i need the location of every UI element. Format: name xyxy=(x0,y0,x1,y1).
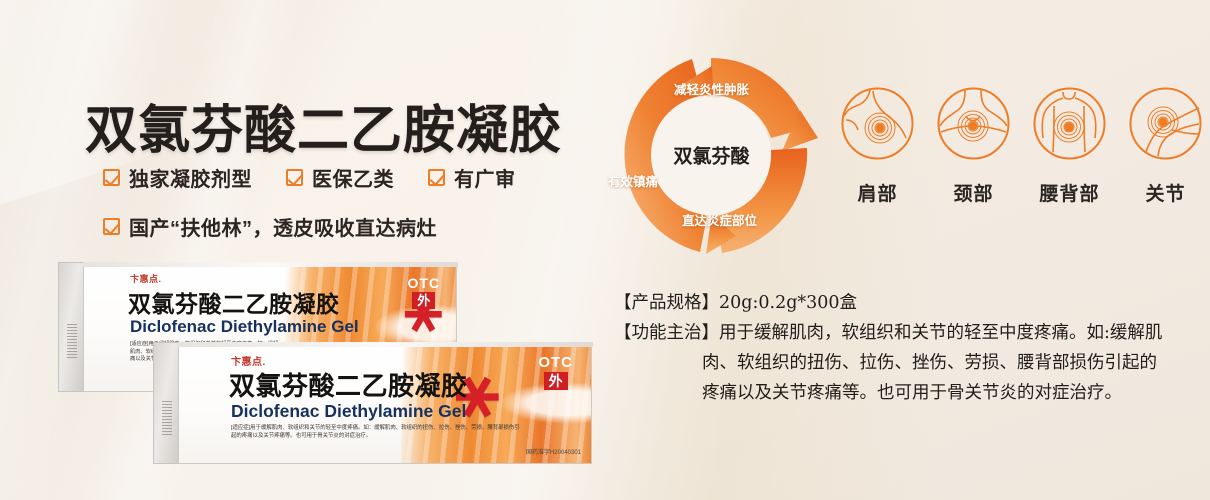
feature-item: 医保乙类 xyxy=(286,163,394,192)
feature-list: 独家凝胶剂型 医保乙类 有广审 国产“扶他林”，透皮吸收直达病灶 xyxy=(103,163,550,241)
check-icon xyxy=(103,218,120,235)
otc-badge: OTC 外 xyxy=(407,276,440,309)
indication-text-1: 用于缓解肌肉，软组织和关节的轻至中度疼痛。如:缓解肌 xyxy=(719,323,1162,343)
shoulder-pain-icon xyxy=(840,86,915,161)
neck-pain-icon xyxy=(936,86,1011,161)
feature-row: 独家凝胶剂型 医保乙类 有广审 xyxy=(103,163,550,192)
indication-text-3: 疼痛以及关节疼痛等。也可用于骨关节炎的对症治疗。 xyxy=(614,378,1204,408)
feature-label: 医保乙类 xyxy=(312,163,394,192)
check-icon xyxy=(286,169,303,186)
body-part-neck: 颈部 xyxy=(936,86,1011,206)
back-pain-icon xyxy=(1032,86,1107,161)
package-name-cn: 双氯芬酸二乙胺凝胶 xyxy=(229,366,468,403)
body-part-label: 腰背部 xyxy=(1032,179,1107,206)
otc-type-label: 外 xyxy=(544,372,568,390)
body-part-label: 肩部 xyxy=(840,179,915,206)
feature-item: 独家凝胶剂型 xyxy=(103,163,252,192)
feature-label: 有广审 xyxy=(454,163,516,192)
product-banner: 双氯芬酸二乙胺凝胶 独家凝胶剂型 医保乙类 有广审 国产“扶他林”，透皮吸收直达… xyxy=(0,0,1210,500)
cycle-label-bottom: 直达炎症部位 xyxy=(682,210,757,229)
product-package-front: ⚹ OTC 外 卞惠点. 双氯芬酸二乙胺凝胶 Diclofenac Diethy… xyxy=(153,342,593,464)
check-icon xyxy=(103,169,120,186)
package-side-panel xyxy=(153,342,179,464)
package-top-edge xyxy=(178,342,593,347)
cycle-center-label: 双氯芬酸 xyxy=(673,141,749,168)
product-package-group: ⚹ OTC 外 卞惠点. 双氯芬酸二乙胺凝胶 Diclofenac Diethy… xyxy=(58,262,578,462)
otc-label: OTC xyxy=(407,276,440,290)
cycle-label-left: 有效镇痛 xyxy=(608,171,658,190)
mechanism-cycle-diagram: 减轻炎性肿胀 直达炎症部位 有效镇痛 双氯芬酸 xyxy=(604,52,819,257)
spec-line: 【产品规格】20g:0.2g*300盒 xyxy=(614,288,1204,318)
feature-item: 有广审 xyxy=(428,163,516,192)
feature-label: 独家凝胶剂型 xyxy=(129,163,252,192)
package-front-face: ⚹ OTC 外 卞惠点. 双氯芬酸二乙胺凝胶 Diclofenac Diethy… xyxy=(178,342,592,464)
joint-pain-icon xyxy=(1128,86,1203,161)
cycle-label-top: 减轻炎性肿胀 xyxy=(674,79,749,98)
feature-label: 国产“扶他林”，透皮吸收直达病灶 xyxy=(129,212,437,241)
package-description: [适应症]用于缓解肌肉、软组织和关节的轻至中度疼痛。如：缓解肌肉、软组织的扭伤、… xyxy=(231,425,521,441)
indication-text-2: 肉、软组织的扭伤、拉伤、挫伤、劳损、腰背部损伤引起的 xyxy=(614,348,1204,378)
spec-label: 【产品规格】 xyxy=(614,293,719,313)
otc-badge: OTC 外 xyxy=(538,355,573,390)
page-title: 双氯芬酸二乙胺凝胶 xyxy=(85,88,562,163)
body-part-label: 关节 xyxy=(1128,179,1203,206)
body-part-joint: 关节 xyxy=(1128,86,1203,206)
package-approval-number: 国药准字H20040301 xyxy=(526,447,581,456)
package-name-cn: 双氯芬酸二乙胺凝胶 xyxy=(128,285,340,319)
package-name-en: Diclofenac Diethylamine Gel xyxy=(130,317,359,337)
otc-type-label: 外 xyxy=(412,292,435,309)
otc-label: OTC xyxy=(538,355,573,370)
body-part-shoulder: 肩部 xyxy=(840,86,915,206)
body-part-label: 颈部 xyxy=(936,179,1011,206)
package-brandmark: 卞惠点. xyxy=(130,272,162,285)
feature-row: 国产“扶他林”，透皮吸收直达病灶 xyxy=(103,212,550,241)
feature-item: 国产“扶他林”，透皮吸收直达病灶 xyxy=(103,212,437,241)
indication-label: 【功能主治】 xyxy=(614,323,719,343)
package-top-edge xyxy=(83,262,458,267)
check-icon xyxy=(428,169,445,186)
indication-body-parts: 肩部 颈部 xyxy=(840,86,1203,206)
package-name-en: Diclofenac Diethylamine Gel xyxy=(231,401,466,422)
body-part-back: 腰背部 xyxy=(1032,86,1107,206)
package-side-panel xyxy=(58,262,84,392)
indication-line: 【功能主治】用于缓解肌肉，软组织和关节的轻至中度疼痛。如:缓解肌 xyxy=(614,318,1204,348)
product-description-block: 【产品规格】20g:0.2g*300盒 【功能主治】用于缓解肌肉，软组织和关节的… xyxy=(614,288,1204,408)
spec-value: 20g:0.2g*300盒 xyxy=(719,293,857,313)
